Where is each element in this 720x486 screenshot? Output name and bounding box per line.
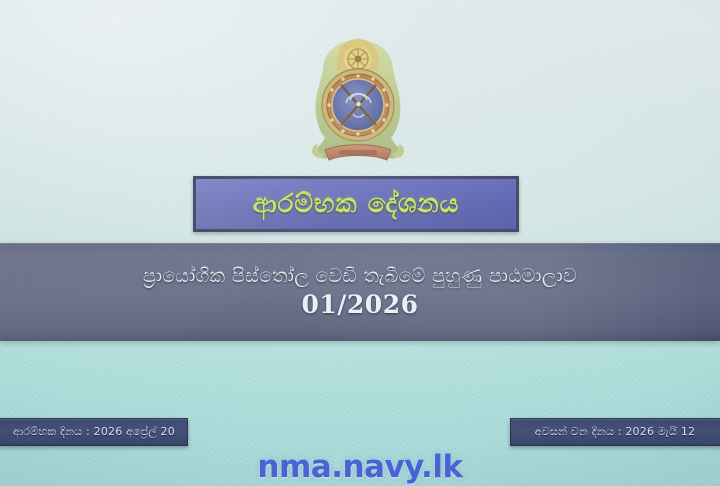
slide-title-box: ආරම්භක දේශනය	[193, 176, 519, 232]
end-date-box: අවසන් වන දිනය : 2026 මැයි 12	[510, 418, 720, 446]
start-date-label: ආරම්භක දිනය : 2026 අප්‍රේල් 20	[13, 425, 175, 439]
course-name-text: ප්‍රායෝගික පිස්තෝල වෙඩි තැබීමේ පුහුණු පා…	[143, 265, 577, 287]
site-watermark: nma.navy.lk	[0, 449, 720, 485]
course-banner: ප්‍රායෝගික පිස්තෝල වෙඩි තැබීමේ පුහුණු පා…	[0, 243, 720, 341]
sri-lanka-navy-crest-icon	[297, 26, 419, 168]
course-number-text: 01/2026	[301, 290, 418, 319]
start-date-box: ආරම්භක දිනය : 2026 අප්‍රේල් 20	[0, 418, 188, 446]
end-date-label: අවසන් වන දිනය : 2026 මැයි 12	[535, 425, 695, 439]
presentation-slide: ආරම්භක දේශනය ප්‍රායෝගික පිස්තෝල වෙඩි තැබ…	[0, 0, 720, 486]
page-title: ආරම්භක දේශනය	[253, 189, 460, 220]
